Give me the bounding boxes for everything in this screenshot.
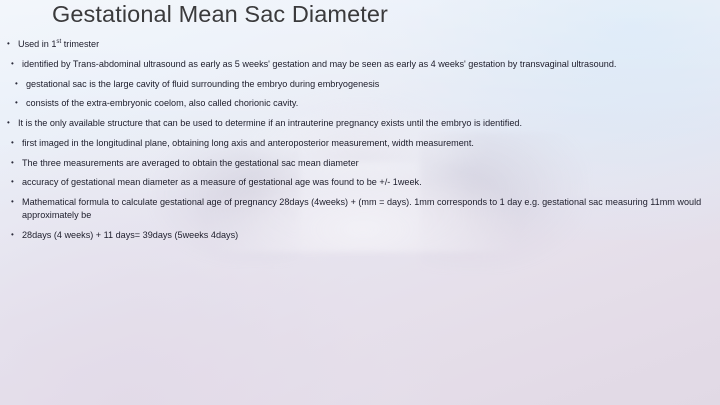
bullet-text: accuracy of gestational mean diameter as… <box>22 176 712 189</box>
slide-title: Gestational Mean Sac Diameter <box>52 1 388 28</box>
bullet-text: It is the only available structure that … <box>18 117 712 130</box>
bullet-mathematical-formula: •Mathematical formula to calculate gesta… <box>7 196 712 221</box>
ordinal-superscript: st <box>56 38 61 45</box>
bullet-worked-example: •28days (4 weeks) + 11 days= 39days (5we… <box>7 229 712 242</box>
bullet-accuracy: •accuracy of gestational mean diameter a… <box>7 176 712 189</box>
bullet-marker-icon: • <box>11 176 22 189</box>
bullet-three-measurements-averaged: •The three measurements are averaged to … <box>7 157 712 170</box>
bullet-marker-icon: • <box>11 196 22 209</box>
bullet-marker-icon: • <box>7 117 18 130</box>
bullet-marker-icon: • <box>15 78 26 91</box>
bullet-marker-icon: • <box>11 58 22 71</box>
presentation-slide: Gestational Mean Sac Diameter •Used in 1… <box>0 0 720 405</box>
bullet-text: The three measurements are averaged to o… <box>22 157 712 170</box>
bullet-gestational-sac-cavity: •gestational sac is the large cavity of … <box>7 78 712 91</box>
bullet-text: consists of the extra-embryonic coelom, … <box>26 97 712 110</box>
bullet-marker-icon: • <box>7 38 18 51</box>
bullet-marker-icon: • <box>11 137 22 150</box>
bullet-text: gestational sac is the large cavity of f… <box>26 78 712 91</box>
bullet-text: first imaged in the longitudinal plane, … <box>22 137 712 150</box>
bullet-identified-ultrasound: •identified by Trans-abdominal ultrasoun… <box>7 58 712 71</box>
bullet-marker-icon: • <box>11 229 22 242</box>
bullet-text: Used in 1st trimester <box>18 38 712 51</box>
bullet-marker-icon: • <box>15 97 26 110</box>
bullet-text: Mathematical formula to calculate gestat… <box>22 196 712 221</box>
bullet-trimester: •Used in 1st trimester <box>7 38 712 51</box>
bullet-marker-icon: • <box>11 157 22 170</box>
bullet-text: identified by Trans-abdominal ultrasound… <box>22 58 712 71</box>
bullet-extra-embryonic-coelom: •consists of the extra-embryonic coelom,… <box>7 97 712 110</box>
bullet-text: 28days (4 weeks) + 11 days= 39days (5wee… <box>22 229 712 242</box>
bullet-longitudinal-plane: •first imaged in the longitudinal plane,… <box>7 137 712 150</box>
bullet-only-available-structure: •It is the only available structure that… <box>7 117 712 130</box>
slide-bullet-list: •Used in 1st trimester•identified by Tra… <box>7 38 712 248</box>
